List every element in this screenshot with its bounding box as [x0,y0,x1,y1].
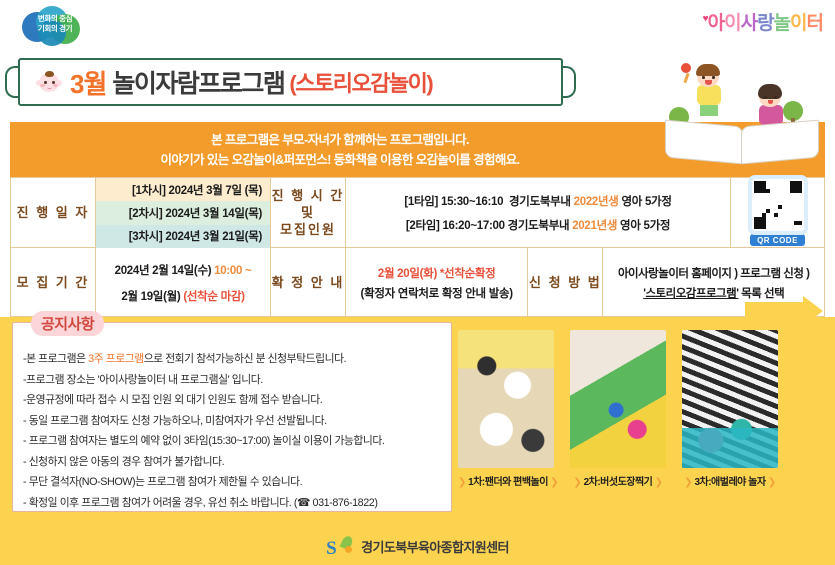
notice-item-2: -프로그램 장소는 '아이사랑놀이터 내 프로그램실' 입니다. [23,370,441,391]
child-boy-illustration [697,67,721,116]
notice-item-4: - 동일 프로그램 참여자도 신청 가능하오나, 미참여자가 우선 선발됩니다. [23,411,441,432]
photo-card: ❯ 3차:애벌레야 놀자 ❯ [682,330,778,515]
table-row: 진 행 일 자 [1차시] 2024년 3월 7일 (목) [2차시] 2024… [11,178,824,248]
label-time-capacity: 진 행 시 간 및 모집인원 [271,178,346,247]
label-period: 모 집 기 간 [11,248,96,317]
notice-list: -본 프로그램은 3주 프로그램으로 전회기 참석가능하신 분 신청부탁드립니다… [13,323,451,519]
slot-1-capacity: 영아 5가정 [621,196,671,208]
apply-path: 아이사랑놀이터 홈페이지 ) 프로그램 신청 ) [618,265,810,281]
notice-item-3: -운영규정에 따라 접수 시 모집 인원 외 대기 인원도 함께 접수 받습니다… [23,390,441,411]
open-book-illustration [663,123,823,163]
qr-code-label: QR CODE [750,234,805,246]
caption-text: 3차:애벌레야 놀자 [694,477,765,488]
time-slot-list: [1타임] 15:30~16:10 경기도북부내 2022년생 영아 5가정 [… [346,178,731,247]
table-row: 모 집 기 간 2024년 2월 14일(수) 10:00 ~ 2월 19일(월… [11,248,824,317]
qr-code-cell[interactable]: QR CODE [731,178,824,247]
session-row-2: [2차시] 2024년 3월 14일(목) [96,201,270,224]
photo-card: ❯ 1차:팬더와 편백놀이 ❯ [458,330,554,515]
notice-panel: 공지사항 -본 프로그램은 3주 프로그램으로 전회기 참석가능하신 분 신청부… [12,322,452,512]
chevron-right-icon: ❯ [684,477,692,488]
footer: S 경기도북부육아종합지원센터 [0,528,835,565]
photo-card: ❯ 2차:버섯도장찍기 ❯ [570,330,666,515]
top-bar: 변화의 중심 기회의 경기 ♥아이사랑놀이터 [0,0,835,48]
banner-line-2: 이야기가 있는 오감놀이&퍼포먼스! 동화책을 이용한 오감놀이를 경험해요. [10,150,670,170]
center-logo-icon: S [326,536,354,558]
label-time-line2: 및 [272,204,345,221]
session-date-list: [1차시] 2024년 3월 7일 (목) [2차시] 2024년 3월 14일… [96,178,271,247]
rattle-icon [681,63,693,77]
apply-program-name: '스토리오감프로그램' [643,288,738,300]
activity-photo-3 [682,330,778,468]
ilove-playground-logo: ♥아이사랑놀이터 [703,8,823,36]
slot-1-year: 2022년생 [574,196,619,208]
application-period: 2024년 2월 14일(수) 10:00 ~ 2월 19일(월) (선착순 마… [96,248,271,317]
notice-item-7: - 무단 결석자(NO-SHOW)는 프로그램 참여가 제한될 수 있습니다. [23,472,441,493]
notice-item-6: - 신청하지 않은 아동의 경우 참여가 불가합니다. [23,452,441,473]
photo-caption-1: ❯ 1차:팬더와 편백놀이 ❯ [458,473,554,488]
label-apply: 신 청 방 법 [528,248,603,317]
notice-item-1: -본 프로그램은 3주 프로그램으로 전회기 참석가능하신 분 신청부탁드립니다… [23,349,441,370]
period-note: (선착순 마감) [183,291,244,303]
chevron-right-icon: ❯ [655,477,663,488]
caption-text: 2차:버섯도장찍기 [584,477,653,488]
banner-line-1: 본 프로그램은 부모-자녀가 함께하는 프로그램입니다. [10,130,670,150]
chevron-right-icon: ❯ [550,477,558,488]
time-slot-1: [1타임] 15:30~16:10 경기도북부내 2022년생 영아 5가정 [404,193,671,209]
activity-photo-1 [458,330,554,468]
title-month: 3월 [70,64,106,101]
notice-title: 공지사항 [31,311,104,336]
emblem-line-1: 변화의 중심 [26,14,84,24]
confirm-info: 2월 20일(화) *선착순확정 (확정자 연락처로 확정 안내 발송) [346,248,528,317]
chevron-right-icon: ❯ [573,477,581,488]
caption-text: 1차:팬더와 편백놀이 [468,477,548,488]
title-subtitle: (스토리오감놀이) [289,66,432,98]
arrow-decoration [745,296,825,326]
emblem-line-2: 기회의 경기 [26,24,84,34]
chevron-right-icon: ❯ [768,477,776,488]
session-row-3: [3차시] 2024년 3월 21일(목) [96,225,270,248]
title-banner: 3월 놀이자람프로그램 (스토리오감놀이) [18,58,578,106]
photo-caption-3: ❯ 3차:애벌레야 놀자 ❯ [682,473,778,488]
period-start: 2024년 2월 14일(수) [115,265,215,277]
program-info-table: 진 행 일 자 [1차시] 2024년 3월 7일 (목) [2차시] 2024… [10,177,825,317]
slot-2-time: [2타임] 16:20~17:00 [406,220,505,232]
time-slot-2: [2타임] 16:20~17:00 경기도북부내 2021년생 영아 5가정 [406,217,670,233]
session-row-1: [1차시] 2024년 3월 7일 (목) [96,178,270,201]
notice-item-8: - 확정일 이후 프로그램 참여가 어려울 경우, 유선 취소 바랍니다. (☎… [23,493,441,514]
period-start-time: 10:00 ~ [214,265,251,277]
slot-2-capacity: 영아 5가정 [620,220,670,232]
qr-module [798,225,802,229]
chevron-right-icon: ❯ [458,477,466,488]
slot-1-place: 경기도북부내 [509,196,571,208]
label-dates: 진 행 일 자 [11,178,96,247]
label-time-line1: 진 행 시 간 [272,187,345,204]
slot-2-year: 2021년생 [572,220,617,232]
period-end: 2월 19일(월) [121,291,183,303]
confirm-note: (확정자 연락처로 확정 안내 발송) [361,285,513,301]
photo-caption-2: ❯ 2차:버섯도장찍기 ❯ [570,473,666,488]
slot-1-time: [1타임] 15:30~16:10 [404,196,503,208]
poster-root: 변화의 중심 기회의 경기 ♥아이사랑놀이터 3월 놀이자람프로그램 (스토리오… [0,0,835,565]
label-time-line3: 모집인원 [272,221,345,238]
qr-code-image[interactable] [752,179,804,231]
slot-2-place: 경기도북부내 [508,220,570,232]
gyeonggi-emblem-icon: 변화의 중심 기회의 경기 [20,4,88,46]
storybook-illustration [655,45,830,177]
label-confirm: 확 정 안 내 [271,248,346,317]
organization-name: 경기도북부육아종합지원센터 [361,537,509,556]
confirm-date: 2월 20일(화) *선착순확정 [378,265,496,281]
activity-photo-2 [570,330,666,468]
notice-item-5: - 프로그램 참여자는 별도의 예약 없이 3타임(15:30~17:00) 놀… [23,431,441,452]
baby-face-icon [36,70,62,94]
page-title: 놀이자람프로그램 [112,64,284,100]
photo-gallery: ❯ 1차:팬더와 편백놀이 ❯ ❯ 2차:버섯도장찍기 ❯ ❯ 3차:애벌레야 … [458,330,778,515]
